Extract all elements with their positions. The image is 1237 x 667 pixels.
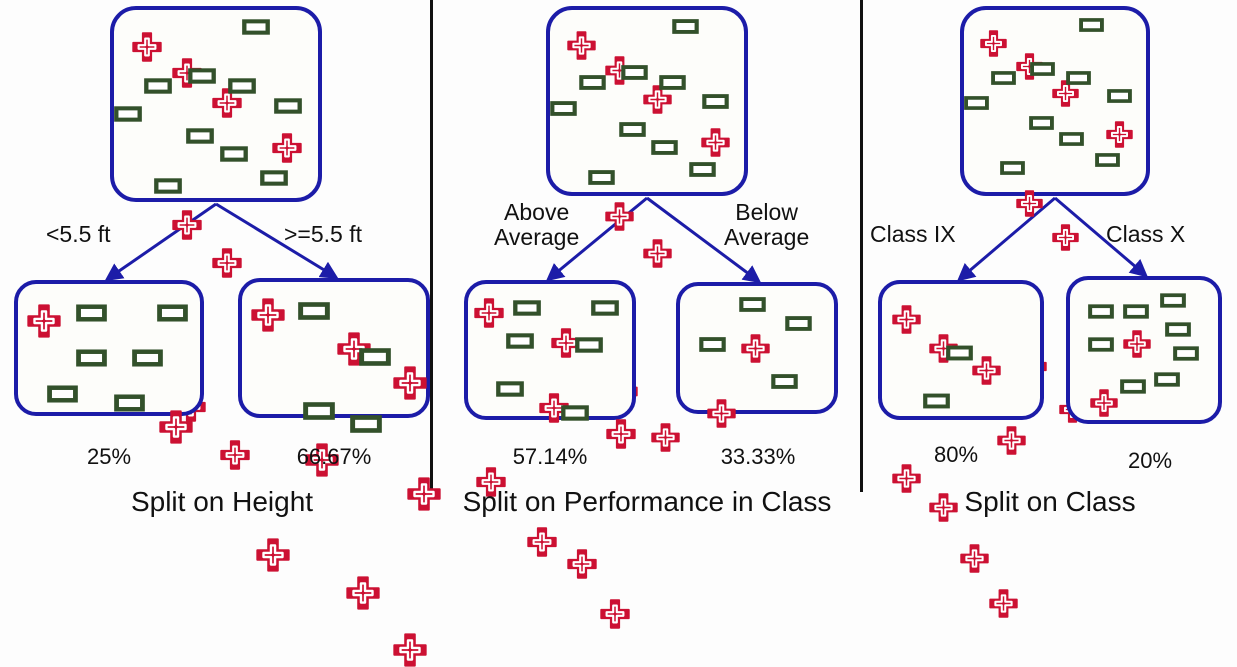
red-cross-icon <box>1106 121 1237 148</box>
node-percentage-left: 25% <box>87 444 131 470</box>
green-rectangle-icon <box>550 101 577 116</box>
red-cross-icon <box>707 399 861 428</box>
red-cross-icon <box>346 576 530 610</box>
child-node-above-average[interactable] <box>464 280 636 420</box>
root-node-performance[interactable] <box>546 6 748 196</box>
red-cross-icon <box>256 538 440 572</box>
green-rectangle-icon <box>588 170 615 185</box>
green-rectangle-icon <box>1154 372 1180 387</box>
green-rectangle-icon <box>1030 62 1055 76</box>
panel-split-on-class: Class IXClass X80%20%Split on Class <box>864 0 1237 522</box>
green-rectangle-icon <box>513 300 541 316</box>
green-rectangle-icon <box>274 98 302 114</box>
edge-label-left: <5.5 ft <box>46 222 111 247</box>
edge-label-right: >=5.5 ft <box>284 222 362 247</box>
red-cross-icon <box>1090 389 1237 417</box>
child-node-over-5-5-ft[interactable] <box>238 278 430 418</box>
green-rectangle-icon <box>1107 89 1132 103</box>
green-rectangle-icon <box>303 402 335 420</box>
green-rectangle-icon <box>76 349 107 367</box>
green-rectangle-icon <box>114 394 145 412</box>
green-rectangle-icon <box>1059 132 1084 146</box>
green-rectangle-icon <box>220 146 248 162</box>
child-node-class-x[interactable] <box>1066 276 1222 424</box>
green-rectangle-icon <box>186 128 214 144</box>
green-rectangle-icon <box>991 71 1016 85</box>
panel-caption: Split on Class <box>964 486 1135 518</box>
green-rectangle-icon <box>47 385 78 403</box>
node-percentage-right: 66.67% <box>297 444 372 470</box>
green-rectangle-icon <box>114 106 142 122</box>
green-rectangle-icon <box>350 415 382 433</box>
node-percentage-right: 20% <box>1128 448 1172 474</box>
green-rectangle-icon <box>591 300 619 316</box>
green-rectangle-icon <box>260 170 288 186</box>
green-rectangle-icon <box>1000 161 1025 175</box>
green-rectangle-icon <box>1095 153 1120 167</box>
green-rectangle-icon <box>496 381 524 397</box>
green-rectangle-icon <box>964 96 989 110</box>
green-rectangle-icon <box>506 333 534 349</box>
green-rectangle-icon <box>739 297 766 312</box>
red-cross-icon <box>600 599 764 629</box>
green-rectangle-icon <box>946 345 973 361</box>
green-rectangle-icon <box>188 68 216 84</box>
green-rectangle-icon <box>702 94 729 109</box>
red-cross-icon <box>393 633 577 667</box>
green-rectangle-icon <box>699 337 726 352</box>
red-cross-icon <box>567 549 731 579</box>
red-cross-icon <box>1016 190 1198 217</box>
decision-tree-diagram: <5.5 ft>=5.5 ft25%66.67%Split on HeightA… <box>0 0 1237 522</box>
panel-split-on-performance: Above AverageBelow Average57.14%33.33%Sp… <box>434 0 860 522</box>
green-rectangle-icon <box>1123 304 1149 319</box>
red-cross-icon <box>892 305 1050 334</box>
green-rectangle-icon <box>659 75 686 90</box>
red-cross-icon <box>251 298 435 332</box>
green-rectangle-icon <box>619 122 646 137</box>
node-percentage-left: 80% <box>934 442 978 468</box>
green-rectangle-icon <box>561 405 589 421</box>
panel-split-on-height: <5.5 ft>=5.5 ft25%66.67%Split on Height <box>0 0 430 522</box>
green-rectangle-icon <box>651 140 678 155</box>
green-rectangle-icon <box>1120 379 1146 394</box>
green-rectangle-icon <box>1088 337 1114 352</box>
child-node-under-5-5-ft[interactable] <box>14 280 204 416</box>
red-cross-icon <box>960 544 1118 573</box>
green-rectangle-icon <box>298 302 330 320</box>
green-rectangle-icon <box>132 349 163 367</box>
green-rectangle-icon <box>1160 293 1186 308</box>
green-rectangle-icon <box>771 374 798 389</box>
green-rectangle-icon <box>1088 304 1114 319</box>
green-rectangle-icon <box>359 348 391 366</box>
node-percentage-left: 57.14% <box>513 444 588 470</box>
red-cross-icon <box>989 589 1147 618</box>
green-rectangle-icon <box>157 304 188 322</box>
panel-caption: Split on Height <box>131 486 313 518</box>
green-rectangle-icon <box>689 162 716 177</box>
edge-label-left: Class IX <box>870 222 956 247</box>
green-rectangle-icon <box>144 78 172 94</box>
green-rectangle-icon <box>1173 346 1199 361</box>
green-rectangle-icon <box>579 75 606 90</box>
green-rectangle-icon <box>154 178 182 194</box>
green-rectangle-icon <box>785 316 812 331</box>
panel-caption: Split on Performance in Class <box>463 486 832 518</box>
child-node-class-ix[interactable] <box>878 280 1044 420</box>
green-rectangle-icon <box>228 78 256 94</box>
root-node-class[interactable] <box>960 6 1150 196</box>
panel-divider-1 <box>430 0 433 492</box>
green-rectangle-icon <box>923 393 950 409</box>
red-cross-icon <box>212 248 416 278</box>
node-percentage-right: 33.33% <box>721 444 796 470</box>
green-rectangle-icon <box>1029 116 1054 130</box>
green-rectangle-icon <box>76 304 107 322</box>
edge-label-right: Class X <box>1106 222 1185 247</box>
child-node-below-average[interactable] <box>676 282 838 414</box>
edge-label-left: Above Average <box>494 200 579 250</box>
green-rectangle-icon <box>575 337 603 353</box>
green-rectangle-icon <box>621 65 648 80</box>
root-node-height[interactable] <box>110 6 322 202</box>
edge-label-right: Below Average <box>724 200 809 250</box>
green-rectangle-icon <box>1066 71 1091 85</box>
